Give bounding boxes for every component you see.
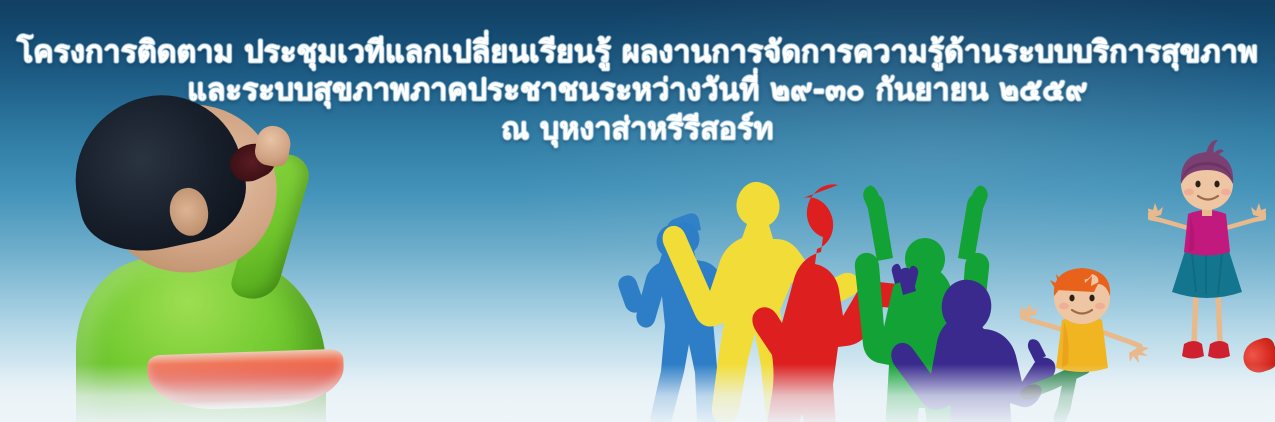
title-line-2: และระบบสุขภาพภาคประชาชนระหว่างวันที่ ๒๙-… xyxy=(0,72,1275,110)
banner-title-block: โครงการติดตาม ประชุมเวทีแลกเปลี่ยนเรียนร… xyxy=(0,34,1275,149)
event-banner: โครงการติดตาม ประชุมเวทีแลกเปลี่ยนเรียนร… xyxy=(0,0,1275,422)
cartoon-boy xyxy=(1020,258,1150,422)
title-line-1: โครงการติดตาม ประชุมเวทีแลกเปลี่ยนเรียนร… xyxy=(0,34,1275,72)
title-line-3-venue: ณ บุหงาส่าหรีรีสอร์ท xyxy=(0,111,1275,149)
